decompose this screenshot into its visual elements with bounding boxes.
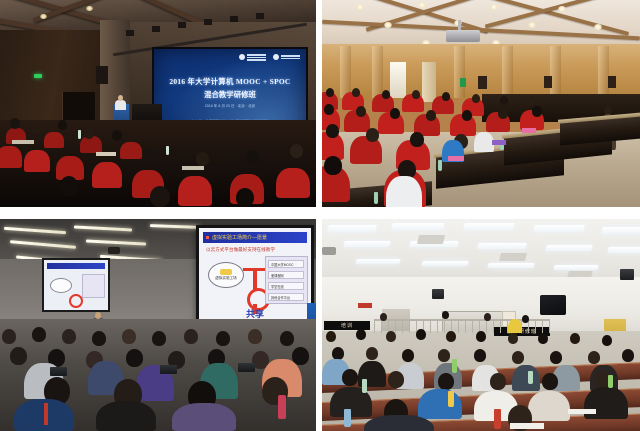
screen-title-line1: 2016 年大学计算机 MOOC + SPOC — [154, 76, 306, 87]
ceiling-light — [490, 4, 498, 10]
lanyard — [44, 403, 48, 425]
stage-light — [230, 16, 238, 22]
exit-sign-icon — [460, 78, 466, 87]
seat — [276, 168, 310, 198]
attendee-head — [356, 329, 366, 340]
attendee-head — [550, 351, 562, 364]
ceiling-light — [40, 14, 47, 19]
slide-subtitle: 以云方式平台做最好支持在线教学 — [206, 247, 275, 253]
attendee-head — [366, 128, 379, 142]
fluorescent-light — [601, 227, 640, 234]
water-bottle — [608, 375, 613, 388]
bullet-icon — [206, 236, 209, 239]
paper-handout — [182, 166, 204, 170]
wall-panel-seam — [550, 46, 561, 98]
wall-mounted-tv-icon — [540, 295, 566, 315]
attendee-head — [500, 96, 508, 105]
speaker-head — [118, 95, 123, 101]
slide-title-text: 虚拟实验工场简介—愿景 — [212, 234, 267, 241]
stage-light — [178, 22, 186, 28]
attendee-head — [386, 331, 396, 342]
attendee-head — [248, 329, 262, 344]
photo-collage: 2016 年大学计算机 MOOC + SPOC 混合教学研修班 2016 年 8… — [0, 0, 640, 431]
attendee-head — [446, 331, 456, 342]
attendee-head — [2, 329, 16, 344]
oval-label: 虚拟实验工场 — [215, 276, 237, 281]
attendee-head — [324, 104, 334, 115]
water-bottle — [452, 359, 457, 373]
stage-light — [204, 19, 212, 25]
platform-row: 爱课程网 — [268, 271, 304, 279]
wall-panel-seam — [454, 46, 465, 98]
paper-handout — [96, 152, 116, 156]
attendee-head — [474, 349, 486, 362]
attendee-head — [92, 331, 106, 346]
attendee-head — [528, 96, 536, 105]
seat — [44, 132, 64, 148]
fluorescent-light — [477, 243, 526, 249]
ceiling-light — [86, 6, 93, 11]
ceiling-light — [558, 6, 566, 12]
oval-badge-icon — [220, 269, 232, 275]
attendee-person — [474, 132, 494, 152]
mini-slide-box — [82, 274, 105, 298]
audience-head — [32, 124, 41, 134]
audience-head — [246, 150, 259, 164]
attendee-head — [326, 124, 339, 138]
ceiling-projector-icon — [446, 30, 480, 42]
ceiling-light — [528, 22, 536, 28]
attendee-person — [418, 389, 462, 419]
attendee-head — [522, 315, 529, 323]
attendee-person — [584, 387, 628, 419]
attendee-head — [366, 347, 378, 360]
flow-arrow — [253, 268, 257, 290]
speaker-person — [115, 100, 126, 110]
attendee-head — [152, 331, 166, 346]
fluorescent-light — [327, 225, 377, 232]
attendee-head — [508, 333, 518, 344]
water-bottle — [438, 160, 442, 171]
audience-head — [112, 130, 122, 141]
water-bottle — [166, 146, 169, 155]
attendee-head — [602, 335, 612, 346]
audience-head — [196, 152, 209, 166]
attendee-head — [184, 329, 198, 344]
attendee-head — [532, 106, 542, 117]
screen-logo-row — [239, 54, 300, 61]
ceiling-light — [356, 4, 364, 10]
audience-head — [58, 120, 67, 130]
attendee-head — [498, 108, 508, 119]
attendee-head — [326, 331, 336, 342]
platform-row: 学堂在线 — [268, 282, 304, 290]
audience-head — [290, 144, 303, 158]
attendee-head — [484, 313, 491, 321]
wall-speaker-icon — [620, 269, 634, 280]
paper-handout — [12, 140, 34, 144]
water-bottle — [494, 409, 501, 429]
ceiling-light — [594, 24, 602, 30]
attendee-head — [352, 88, 360, 97]
attendee-head — [476, 331, 486, 342]
audience-head — [144, 148, 156, 161]
attendee-head — [438, 349, 450, 362]
attendee-head — [326, 88, 334, 97]
stage-light — [152, 26, 160, 32]
attendee-person — [386, 176, 422, 207]
window — [390, 62, 406, 98]
name-card — [522, 128, 536, 133]
screen-title-line2: 混合教学研修班 — [154, 89, 306, 100]
attendee-head — [126, 349, 143, 367]
seat — [178, 176, 212, 206]
water-bottle — [362, 379, 367, 393]
audience-head — [10, 118, 20, 129]
attendee-person — [528, 391, 570, 421]
fluorescent-light — [343, 241, 390, 247]
exit-sign-icon — [34, 74, 42, 78]
seat — [120, 142, 142, 159]
attendee-head — [462, 110, 472, 121]
fluorescent-light — [533, 225, 585, 232]
ceiling-light — [418, 2, 426, 8]
fluorescent-light — [421, 261, 468, 266]
attendee-head — [380, 313, 387, 321]
water-bottle — [448, 391, 454, 407]
attendee-head — [588, 351, 600, 364]
attendee-person — [172, 403, 236, 431]
fluorescent-light — [463, 223, 515, 230]
platform-row: 其他合作平台 — [268, 293, 304, 301]
water-bottle — [78, 130, 81, 139]
attendee-head — [490, 373, 506, 390]
seat — [92, 162, 122, 188]
attendee-person — [512, 365, 540, 391]
attendee-head — [410, 132, 424, 147]
wall-panel-seam — [598, 46, 609, 98]
audience-head — [84, 128, 94, 139]
stage-light — [126, 30, 134, 36]
wall-speaker-icon — [96, 66, 108, 84]
attendee-head — [442, 92, 450, 101]
attendee-head — [356, 106, 366, 117]
attendee-head — [442, 311, 449, 319]
attendee-head — [62, 329, 76, 344]
audience-head — [236, 188, 254, 207]
ceiling-projector-icon — [108, 247, 120, 254]
seat — [0, 146, 22, 168]
ceiling-vent — [499, 253, 527, 261]
fluorescent-light — [607, 247, 640, 253]
fluorescent-light — [391, 223, 445, 230]
water-bottle — [528, 371, 533, 384]
attendee-head — [622, 349, 634, 362]
mini-slide-oval — [50, 278, 72, 293]
wall-panel-seam — [502, 46, 513, 98]
audience-head — [60, 176, 78, 196]
curtain — [422, 62, 436, 102]
attendee-head — [280, 331, 294, 346]
name-card — [448, 156, 464, 161]
attendee-head — [538, 333, 548, 344]
attendee-head — [438, 373, 454, 390]
stage-light — [256, 13, 264, 19]
attendee-head — [426, 110, 436, 121]
projection-screen-main: 虚拟实验工场简介—愿景 以云方式平台做最好支持在线教学 虚拟实验工场 中国大学M… — [196, 225, 314, 325]
ceiling-projector-icon — [322, 247, 336, 255]
attendee-head — [10, 347, 27, 365]
water-bottle — [344, 409, 351, 427]
attendee-head — [390, 108, 400, 119]
fluorescent-light — [553, 265, 598, 270]
slide-platform-group: 中国大学MOOC 爱课程网 学堂在线 其他合作平台 — [265, 256, 308, 304]
ceiling-vent — [417, 235, 445, 244]
attendee-head — [512, 351, 524, 364]
fluorescent-light — [355, 259, 400, 264]
wall-speaker-icon — [478, 76, 487, 89]
paper-handout — [568, 409, 596, 414]
mooc-consortium-logo-icon — [239, 54, 266, 61]
attendee-head — [388, 371, 404, 388]
platform-row: 中国大学MOOC — [268, 260, 304, 268]
photo-classroom-presentation-virtual-lab: 虚拟实验工场简介—愿景 以云方式平台做最好支持在线教学 虚拟实验工场 中国大学M… — [0, 219, 316, 431]
slide-oval-node: 虚拟实验工场 — [208, 262, 244, 288]
wall-panel-seam — [372, 46, 383, 98]
wall-notice — [358, 303, 372, 308]
photo-lecture-hall-audience-wide — [322, 0, 640, 207]
audience-head — [150, 186, 170, 207]
attendee-head — [32, 327, 46, 342]
fluorescent-light — [487, 263, 534, 268]
wall-speaker-icon — [432, 289, 444, 299]
desk-monitor — [238, 363, 255, 372]
attendee-head — [472, 94, 480, 103]
attendee-head — [216, 331, 230, 346]
presenter-head — [95, 312, 101, 319]
attendee-person — [364, 415, 434, 431]
desk-monitor — [50, 367, 67, 376]
attendee-person — [508, 319, 522, 333]
projection-screen-secondary — [42, 258, 110, 312]
desk-monitor — [160, 365, 177, 374]
beijing-university-logo-icon — [273, 54, 300, 60]
attendee-head — [570, 333, 580, 344]
paper-handout — [510, 423, 544, 429]
name-card — [492, 140, 506, 145]
attendee-head — [122, 329, 136, 344]
attendee-head — [324, 156, 342, 175]
water-bottle — [278, 395, 286, 419]
wall-panel-seam — [340, 46, 351, 98]
photo-bright-classroom-attendees: 培训 教师研修班 — [322, 219, 640, 431]
attendee-person — [96, 401, 156, 431]
mini-slide-ring — [69, 294, 83, 308]
seat — [24, 150, 50, 172]
screen-subtitle: 2016 年 8 月 20 日 · 北京 · 北京 — [154, 104, 306, 109]
ceiling-light — [384, 22, 392, 28]
water-bottle — [374, 192, 378, 204]
attendee-head — [542, 373, 558, 390]
attendee-head — [402, 349, 414, 362]
fluorescent-light — [545, 245, 592, 251]
photo-auditorium-opening-ceremony: 2016 年大学计算机 MOOC + SPOC 混合教学研修班 2016 年 8… — [0, 0, 316, 207]
wall-speaker-icon — [544, 76, 552, 88]
attendee-head — [342, 369, 358, 386]
slide-title-bar: 虚拟实验工场简介—愿景 — [203, 232, 307, 243]
wood-panel-wall — [322, 44, 640, 100]
attendee-head — [416, 329, 426, 340]
wall-speaker-icon — [608, 76, 616, 88]
attendee-head — [382, 90, 390, 99]
mini-slide-title-bar — [47, 263, 105, 269]
attendee-head — [412, 90, 420, 99]
